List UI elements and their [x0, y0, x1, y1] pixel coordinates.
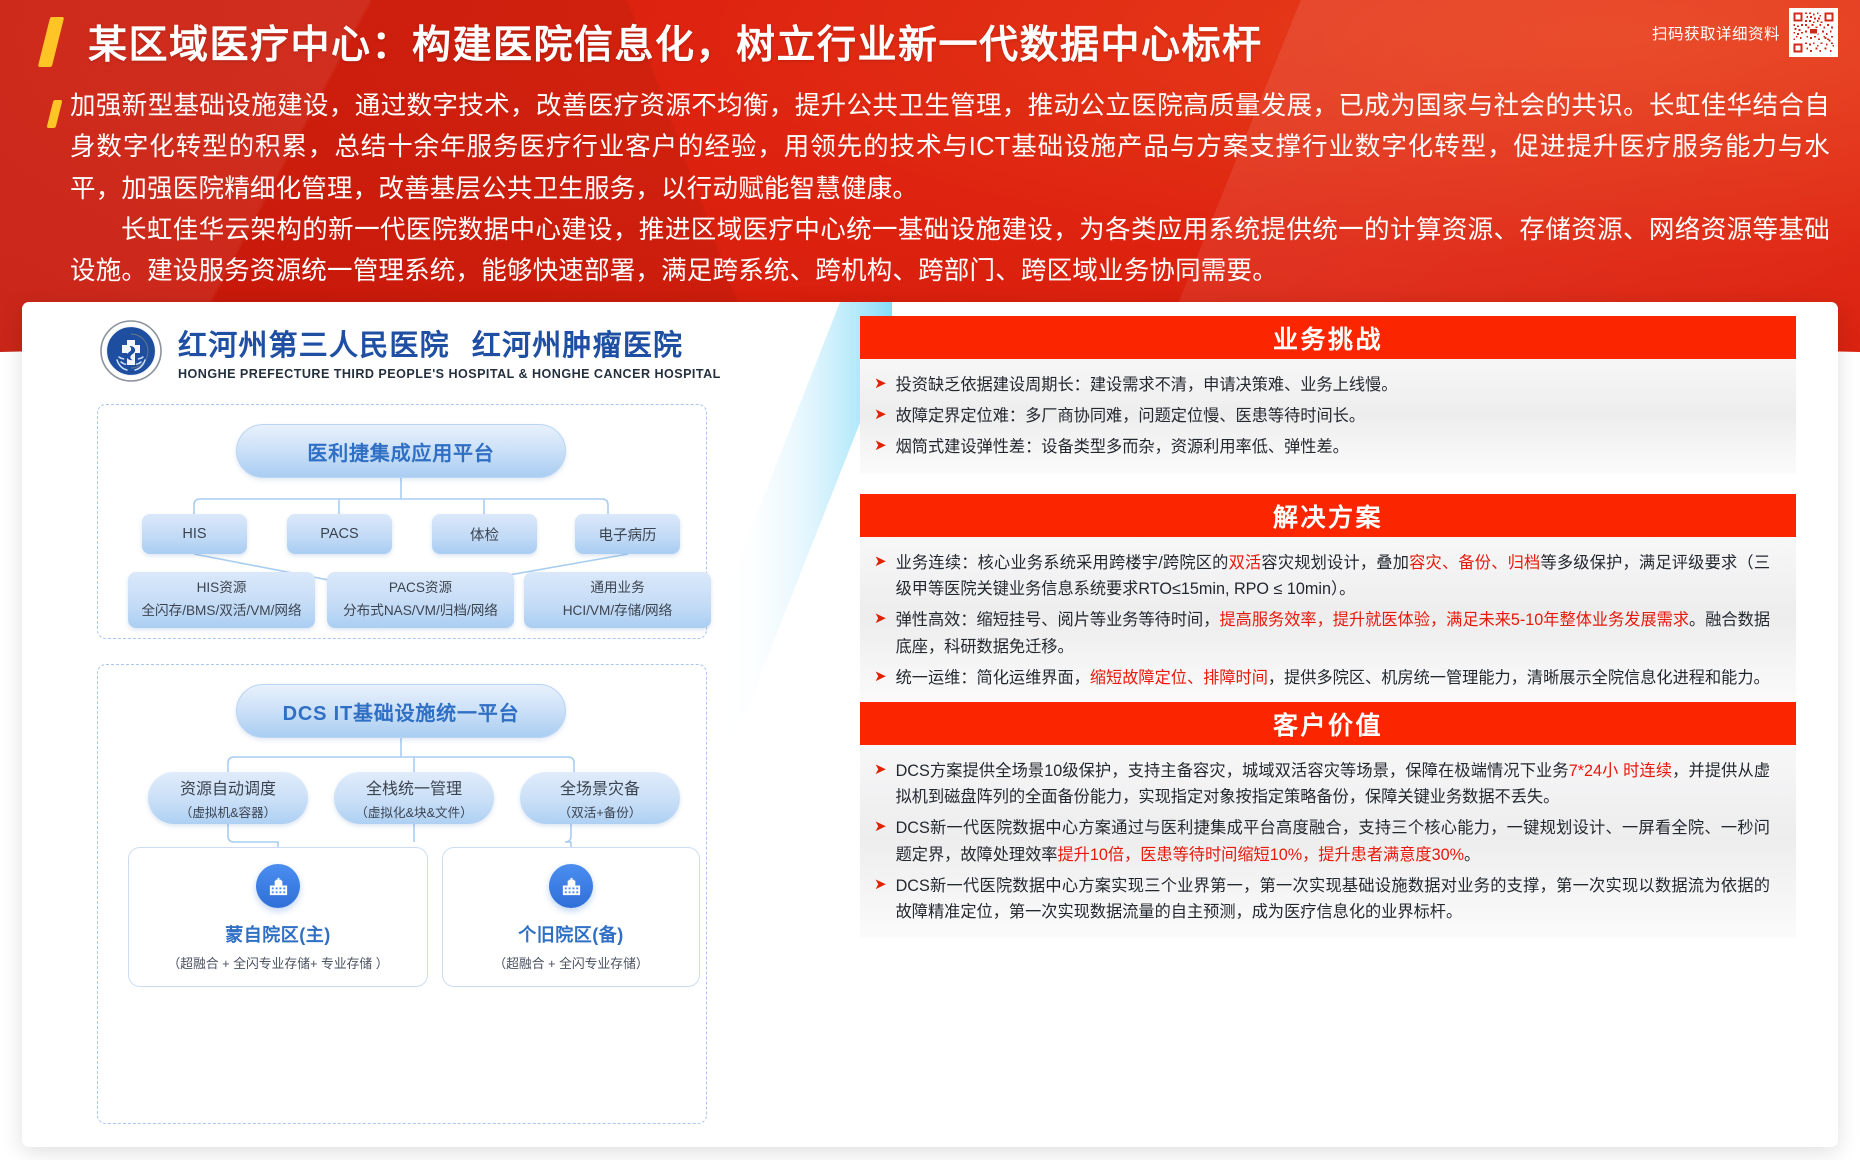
hero-paragraph-2: 长虹佳华云架构的新一代医院数据中心建设，推进区域医疗中心统一基础设施建设，为各类…	[70, 210, 1830, 293]
bullet-arrow-icon: ➤	[874, 665, 887, 689]
panel-heading: 客户价值	[860, 702, 1796, 745]
site-detail: （超融合 + 全闪专业存储+ 专业存储 ）	[167, 953, 388, 972]
site-card-primary: 蒙自院区(主) （超融合 + 全闪专业存储+ 专业存储 ）	[128, 847, 428, 987]
resource-title: 通用业务	[590, 580, 644, 597]
capability-sub: （虚拟机&容器）	[180, 802, 277, 821]
resource-title: HIS资源	[197, 580, 247, 597]
resource-detail: HCI/VM/存储/网络	[563, 603, 673, 620]
site-card-backup: 个旧院区(备) （超融合 + 全闪专业存储）	[442, 847, 700, 987]
title-accent-slash	[38, 17, 64, 67]
list-item: ➤ 烟筒式建设弹性差：设备类型多而杂，资源利用率低、弹性差。	[874, 434, 1770, 460]
capability-node-scheduling: 资源自动调度 （虚拟机&容器）	[148, 772, 308, 824]
capability-sub: （双活+备份）	[559, 802, 642, 821]
hospital-name-cn: 红河州第三人民医院红河州肿瘤医院	[178, 322, 721, 364]
system-node-pacs: PACS	[287, 514, 392, 554]
bullet-arrow-icon: ➤	[874, 758, 887, 782]
bullet-text: 业务连续：核心业务系统采用跨楼宇/跨院区的双活容灾规划设计，叠加容灾、备份、归档…	[896, 550, 1770, 602]
bullet-arrow-icon: ➤	[874, 815, 887, 839]
list-item: ➤ 弹性高效：缩短挂号、阅片等业务等待时间，提高服务效率，提升就医体验，满足未来…	[874, 607, 1770, 659]
app-platform-node: 医利捷集成应用平台	[236, 424, 566, 478]
bullet-arrow-icon: ➤	[874, 607, 887, 631]
info-panels: 业务挑战 ➤ 投资缺乏依据建设周期长：建设需求不清，申请决策难、业务上线慢。 ➤…	[860, 302, 1838, 1147]
site-name: 蒙自院区(主)	[225, 921, 331, 947]
bullet-text: 烟筒式建设弹性差：设备类型多而杂，资源利用率低、弹性差。	[896, 434, 1349, 460]
qr-block[interactable]: 扫码获取详细资料	[1652, 8, 1838, 57]
bullet-arrow-icon: ➤	[874, 434, 887, 458]
panel-customer-value: 客户价值 ➤ DCS方案提供全场景10级保护，支持主备容灾，城域双活容灾等场景，…	[860, 702, 1796, 938]
bullet-text: 弹性高效：缩短挂号、阅片等业务等待时间，提高服务效率，提升就医体验，满足未来5-…	[896, 607, 1770, 659]
resource-node-pacs: PACS资源 分布式NAS/VM/归档/网络	[327, 572, 514, 628]
list-item: ➤ 统一运维：简化运维界面，缩短故障定位、排障时间，提供多院区、机房统一管理能力…	[874, 665, 1770, 691]
hero-body: 加强新型基础设施建设，通过数字技术，改善医疗资源不均衡，提升公共卫生管理，推动公…	[70, 86, 1830, 292]
panel-business-challenge: 业务挑战 ➤ 投资缺乏依据建设周期长：建设需求不清，申请决策难、业务上线慢。 ➤…	[860, 316, 1796, 474]
resource-detail: 分布式NAS/VM/归档/网络	[343, 603, 498, 620]
hospital-building-icon	[549, 864, 593, 908]
panel-body: ➤ 投资缺乏依据建设周期长：建设需求不清，申请决策难、业务上线慢。 ➤ 故障定界…	[860, 359, 1796, 474]
hospital-logo-texts: 红河州第三人民医院红河州肿瘤医院 HONGHE PREFECTURE THIRD…	[178, 322, 721, 381]
bullet-arrow-icon: ➤	[874, 403, 887, 427]
hero-paragraph-1: 加强新型基础设施建设，通过数字技术，改善医疗资源不均衡，提升公共卫生管理，推动公…	[70, 86, 1830, 210]
hospital-name-en: HONGHE PREFECTURE THIRD PEOPLE'S HOSPITA…	[178, 367, 721, 381]
capability-title: 全栈统一管理	[366, 775, 462, 799]
hospital-logo: 红河州第三人民医院红河州肿瘤医院 HONGHE PREFECTURE THIRD…	[100, 320, 721, 382]
qr-code-icon[interactable]	[1789, 8, 1838, 57]
system-node-emr: 电子病历	[575, 514, 680, 554]
hospital-building-icon	[256, 864, 300, 908]
architecture-pane: 红河州第三人民医院红河州肿瘤医院 HONGHE PREFECTURE THIRD…	[22, 302, 857, 1147]
bullet-text: 投资缺乏依据建设周期长：建设需求不清，申请决策难、业务上线慢。	[896, 372, 1398, 398]
capability-title: 全场景灾备	[560, 775, 640, 799]
panel-body: ➤ DCS方案提供全场景10级保护，支持主备容灾，城域双活容灾等场景，保障在极端…	[860, 745, 1796, 938]
bullet-text: DCS方案提供全场景10级保护，支持主备容灾，城域双活容灾等场景，保障在极端情况…	[896, 758, 1770, 810]
dcs-platform-node: DCS IT基础设施统一平台	[236, 684, 566, 738]
list-item: ➤ 业务连续：核心业务系统采用跨楼宇/跨院区的双活容灾规划设计，叠加容灾、备份、…	[874, 550, 1770, 602]
bullet-text: DCS新一代医院数据中心方案实现三个业界第一，第一次实现基础设施数据对业务的支撑…	[896, 873, 1770, 925]
system-node-his: HIS	[142, 514, 247, 554]
hospital-name-cn-1: 红河州第三人民医院	[178, 330, 450, 362]
bullet-text: 故障定界定位难：多厂商协同难，问题定位慢、医患等待时间长。	[896, 403, 1365, 429]
bullet-text: 统一运维：简化运维界面，缩短故障定位、排障时间，提供多院区、机房统一管理能力，清…	[896, 665, 1770, 691]
bullet-arrow-icon: ➤	[874, 372, 887, 396]
bullet-arrow-icon: ➤	[874, 873, 887, 897]
panel-heading: 业务挑战	[860, 316, 1796, 359]
resource-detail: 全闪存/BMS/双活/VM/网络	[141, 603, 301, 620]
resource-node-general: 通用业务 HCI/VM/存储/网络	[524, 572, 711, 628]
hospital-emblem-icon	[100, 320, 162, 382]
list-item: ➤ DCS新一代医院数据中心方案通过与医利捷集成平台高度融合，支持三个核心能力，…	[874, 815, 1770, 867]
list-item: ➤ 投资缺乏依据建设周期长：建设需求不清，申请决策难、业务上线慢。	[874, 372, 1770, 398]
capability-title: 资源自动调度	[180, 775, 276, 799]
subtitle-accent-slash	[47, 100, 63, 128]
panel-solution: 解决方案 ➤ 业务连续：核心业务系统采用跨楼宇/跨院区的双活容灾规划设计，叠加容…	[860, 494, 1796, 704]
qr-label: 扫码获取详细资料	[1652, 22, 1780, 44]
panel-heading: 解决方案	[860, 494, 1796, 537]
resource-title: PACS资源	[389, 580, 452, 597]
hospital-name-cn-2: 红河州肿瘤医院	[472, 330, 683, 362]
system-node-checkup: 体检	[432, 514, 537, 554]
capability-sub: （虚拟化&块&文件）	[355, 802, 473, 821]
site-detail: （超融合 + 全闪专业存储）	[493, 953, 648, 972]
list-item: ➤ DCS新一代医院数据中心方案实现三个业界第一，第一次实现基础设施数据对业务的…	[874, 873, 1770, 925]
resource-node-his: HIS资源 全闪存/BMS/双活/VM/网络	[128, 572, 315, 628]
panel-body: ➤ 业务连续：核心业务系统采用跨楼宇/跨院区的双活容灾规划设计，叠加容灾、备份、…	[860, 537, 1796, 704]
list-item: ➤ DCS方案提供全场景10级保护，支持主备容灾，城域双活容灾等场景，保障在极端…	[874, 758, 1770, 810]
bullet-text: DCS新一代医院数据中心方案通过与医利捷集成平台高度融合，支持三个核心能力，一键…	[896, 815, 1770, 867]
capability-node-management: 全栈统一管理 （虚拟化&块&文件）	[334, 772, 494, 824]
bullet-arrow-icon: ➤	[874, 550, 887, 574]
list-item: ➤ 故障定界定位难：多厂商协同难，问题定位慢、医患等待时间长。	[874, 403, 1770, 429]
content-card: 红河州第三人民医院红河州肿瘤医院 HONGHE PREFECTURE THIRD…	[22, 302, 1838, 1147]
page-title: 某区域医疗中心：构建医院信息化，树立行业新一代数据中心标杆	[88, 14, 1263, 70]
capability-node-dr: 全场景灾备 （双活+备份）	[520, 772, 680, 824]
site-name: 个旧院区(备)	[518, 921, 624, 947]
